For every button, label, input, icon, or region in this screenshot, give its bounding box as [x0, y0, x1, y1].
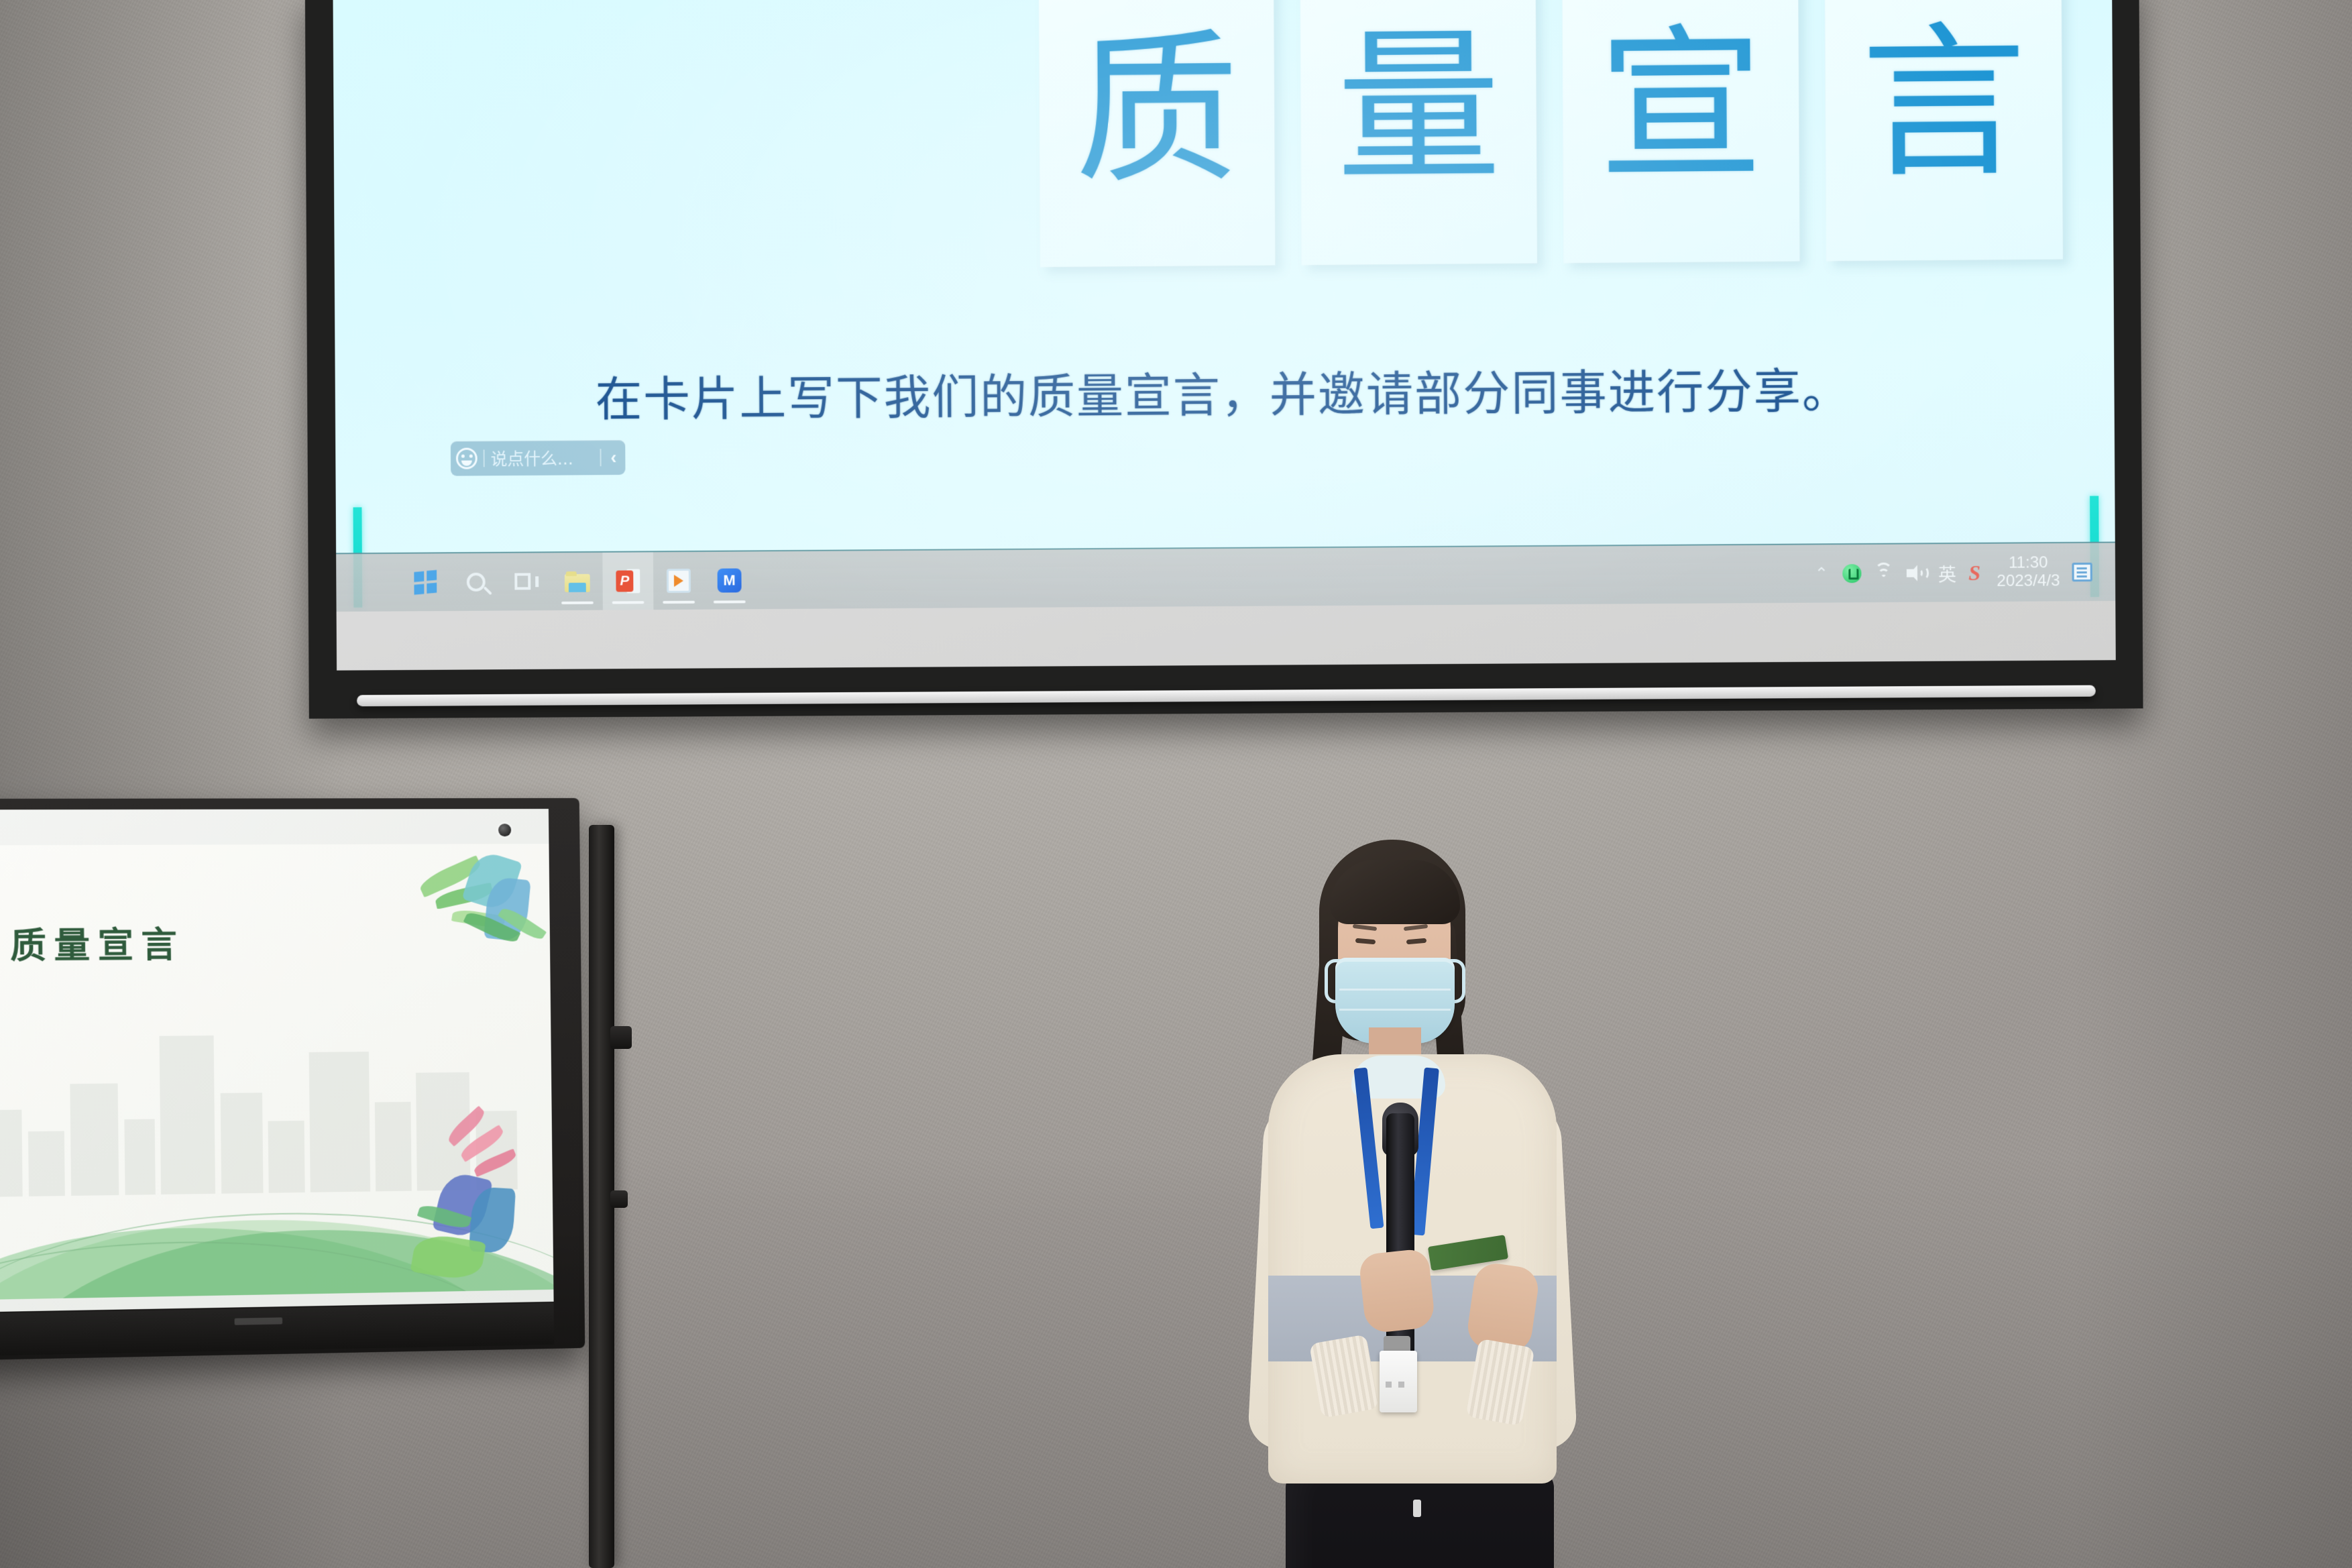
- windows-taskbar: P M ⌃: [336, 542, 2115, 612]
- chat-input-placeholder[interactable]: 说点什么...: [490, 445, 594, 470]
- volume-icon[interactable]: [1906, 564, 1926, 581]
- projector-screen-surface: 质 量 宣 言 在卡片上写下我们的质量宣言，并邀请部分同事进行分享。: [333, 0, 2115, 671]
- taskbar-clock[interactable]: 11:30 2023/4/3: [1997, 554, 2060, 591]
- stand-adjust-knob[interactable]: [610, 1026, 632, 1049]
- hand: [1358, 1248, 1436, 1334]
- chat-divider: [484, 449, 485, 467]
- sogou-ime-icon[interactable]: S: [1968, 560, 1980, 585]
- monitor-stand-post: [589, 825, 614, 1568]
- emoji-smiley-icon[interactable]: [456, 448, 478, 469]
- mask-fold: [1339, 1009, 1451, 1011]
- taskbar-meeting-app-button[interactable]: M: [704, 551, 755, 609]
- file-explorer-icon[interactable]: [565, 571, 590, 592]
- leaf-decoration-bottom-right: [405, 1112, 552, 1286]
- monitor-slide-title: 质量宣言: [10, 916, 185, 968]
- slide-subtitle: 在卡片上写下我们的质量宣言，并邀请部分同事进行分享。: [335, 351, 2115, 432]
- title-card: 质: [1039, 0, 1275, 267]
- taskbar-task-view-button[interactable]: [501, 553, 552, 610]
- title-card-char: 言: [1860, 20, 2027, 186]
- presenter-person: [1237, 840, 1600, 1568]
- skirt-button: [1413, 1500, 1421, 1517]
- monitor-slide: 质量宣言: [0, 844, 553, 1300]
- taskbar-start-button[interactable]: [400, 553, 451, 611]
- chat-collapse-chevron-icon[interactable]: ‹: [607, 447, 620, 468]
- task-view-icon[interactable]: [514, 571, 539, 592]
- projector-screen: 质 量 宣 言 在卡片上写下我们的质量宣言，并邀请部分同事进行分享。: [305, 0, 2143, 719]
- title-card: 宣: [1562, 0, 1799, 263]
- powerpoint-icon[interactable]: P: [616, 569, 640, 593]
- notification-icon[interactable]: [2072, 563, 2092, 581]
- taskbar-system-tray: ⌃ 英 S 11:30 2023/4/3: [1813, 554, 2092, 592]
- title-card-char: 宣: [1598, 22, 1764, 188]
- search-icon[interactable]: [467, 573, 486, 592]
- id-badge: [1380, 1351, 1417, 1412]
- hair-fringe: [1330, 860, 1460, 924]
- taskbar-search-button[interactable]: [451, 553, 502, 611]
- taskbar-powerpoint-button[interactable]: P: [602, 552, 653, 610]
- monitor-screen: 质量宣言: [0, 809, 554, 1312]
- taskbar-file-explorer-button[interactable]: [552, 553, 603, 610]
- taskbar-date: 2023/4/3: [1997, 572, 2060, 591]
- tray-expand-chevron-icon[interactable]: ⌃: [1813, 564, 1830, 583]
- title-card-char: 量: [1336, 25, 1502, 190]
- monitor-brand-logo: [235, 1317, 283, 1325]
- ime-language-indicator[interactable]: 英: [1938, 560, 1956, 586]
- wifi-icon[interactable]: [1873, 565, 1893, 581]
- skirt: [1286, 1470, 1554, 1568]
- chat-divider: [600, 449, 601, 466]
- leaf-decoration-top-right: [406, 844, 549, 976]
- taskbar-media-player-button[interactable]: [653, 552, 704, 610]
- meeting-app-icon[interactable]: M: [718, 568, 742, 592]
- conference-room-photo: 质 量 宣 言 在卡片上写下我们的质量宣言，并邀请部分同事进行分享。: [0, 0, 2352, 1568]
- projected-slide: 质 量 宣 言 在卡片上写下我们的质量宣言，并邀请部分同事进行分享。: [333, 0, 2115, 612]
- title-card-group: 质 量 宣 言: [1039, 0, 2063, 303]
- stand-adjust-knob[interactable]: [610, 1190, 628, 1208]
- title-card: 量: [1300, 0, 1537, 265]
- windows-start-icon[interactable]: [414, 570, 437, 595]
- secondary-monitor: 质量宣言: [0, 798, 585, 1361]
- mask-fold: [1339, 989, 1451, 991]
- title-card-char: 质: [1074, 27, 1239, 192]
- taskbar-time: 11:30: [1997, 554, 2060, 573]
- media-player-icon[interactable]: [667, 569, 691, 593]
- security-shield-icon[interactable]: [1842, 564, 1861, 583]
- webcam-icon: [498, 824, 511, 836]
- title-card: 言: [1825, 0, 2063, 261]
- taskbar-pinned-apps: P M: [400, 551, 754, 611]
- chat-input-widget[interactable]: 说点什么... ‹: [451, 440, 626, 476]
